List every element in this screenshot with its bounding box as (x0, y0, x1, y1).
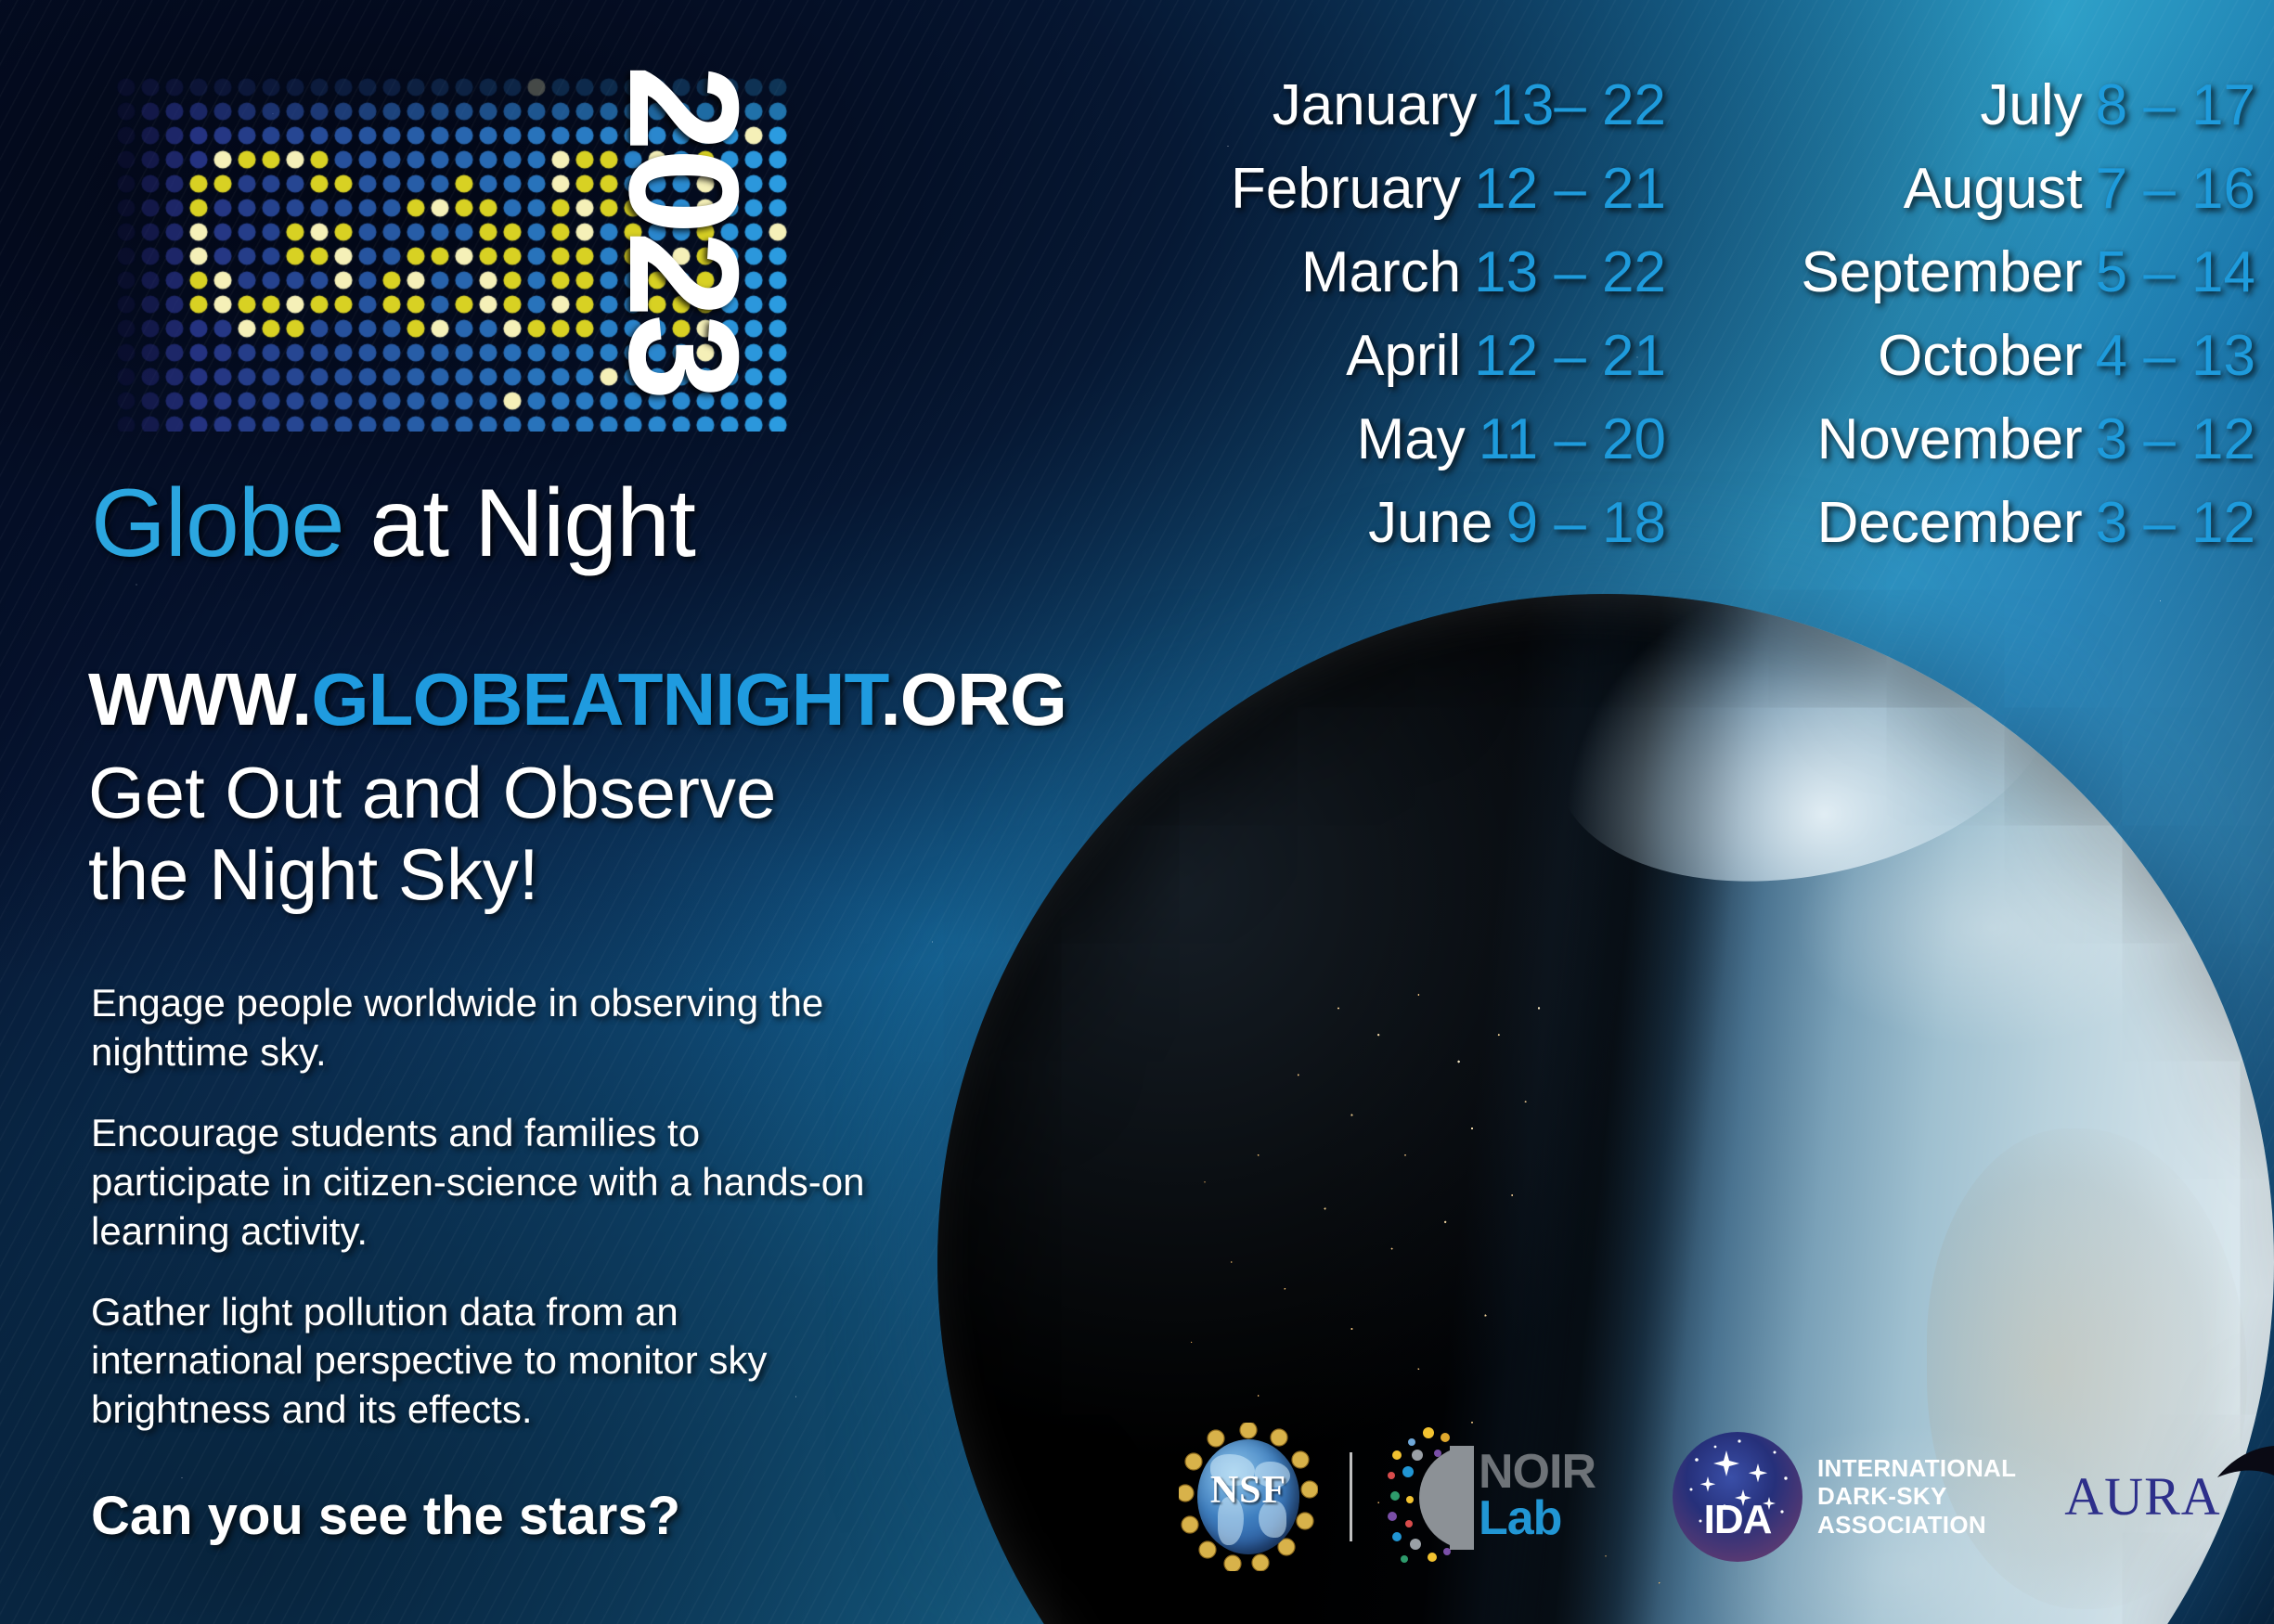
aura-logo[interactable]: AURA (2064, 1437, 2274, 1557)
poster-root: Globe at Night 2023 January 13– 22 Febru… (0, 0, 2274, 1624)
nsf-label: NSF (1179, 1468, 1318, 1513)
dates-column-left: January 13– 22 February 12 – 21 March 13… (1142, 72, 1666, 574)
date-row: June 9 – 18 (1142, 490, 1666, 574)
date-month: December (1817, 490, 2083, 556)
year-label: 2023 (625, 65, 773, 585)
campaign-dates-grid: January 13– 22 February 12 – 21 March 13… (1142, 72, 2255, 574)
url-tld: .ORG (881, 658, 1066, 741)
body-paragraph: Gather light pollution data from an inte… (91, 1288, 889, 1436)
ida-logo[interactable]: IDA INTERNATIONAL DARK-SKY ASSOCIATION (1673, 1432, 2016, 1562)
date-range: 12 – 21 (1474, 156, 1666, 222)
date-month: April (1346, 323, 1461, 389)
date-row: July 8 – 17 (1731, 72, 2255, 156)
date-range: 13 – 22 (1474, 239, 1666, 305)
date-month: May (1357, 406, 1466, 472)
date-row: December 3 – 12 (1731, 490, 2255, 574)
date-row: March 13 – 22 (1142, 239, 1666, 323)
brand-word-globe: Globe (91, 470, 344, 577)
noirlab-dot-cluster-icon (1384, 1427, 1473, 1566)
url-prefix: WWW. (88, 658, 311, 741)
headline-line-2: the Night Sky! (88, 833, 1016, 915)
ida-starfield-icon: IDA (1673, 1432, 1802, 1562)
url-domain: GLOBEATNIGHT (311, 658, 880, 741)
noirlab-wordmark: NOIR Lab (1479, 1450, 1596, 1542)
aura-wordmark: AURA (2064, 1465, 2220, 1527)
date-month: August (1904, 156, 2083, 222)
date-month: June (1368, 490, 1492, 556)
date-row: November 3 – 12 (1731, 406, 2255, 490)
dates-column-right: July 8 – 17 August 7 – 16 September 5 – … (1731, 72, 2255, 574)
date-range: 3 – 12 (2096, 406, 2255, 472)
body-paragraph: Engage people worldwide in observing the… (91, 979, 889, 1077)
brand-wordmark: Globe at Night (91, 469, 695, 579)
date-row: February 12 – 21 (1142, 156, 1666, 239)
noirlab-label-noir: NOIR (1479, 1450, 1596, 1495)
date-row: May 11 – 20 (1142, 406, 1666, 490)
date-month: October (1878, 323, 2083, 389)
date-range: 11 – 20 (1479, 406, 1666, 472)
ida-full-name: INTERNATIONAL DARK-SKY ASSOCIATION (1817, 1454, 2016, 1538)
date-row: October 4 – 13 (1731, 323, 2255, 406)
website-url[interactable]: WWW.GLOBEATNIGHT.ORG (88, 657, 1066, 742)
call-to-action-text: Can you see the stars? (91, 1485, 680, 1547)
date-row: April 12 – 21 (1142, 323, 1666, 406)
date-range: 8 – 17 (2096, 72, 2255, 138)
body-copy: Engage people worldwide in observing the… (91, 979, 889, 1435)
noirlab-label-lab: Lab (1479, 1495, 1596, 1542)
sponsor-logo-bar: NSF (1179, 1415, 2255, 1578)
date-range: 4 – 13 (2096, 323, 2255, 389)
aura-swoosh-icon (2216, 1437, 2274, 1557)
date-row: August 7 – 16 (1731, 156, 2255, 239)
page-title: Get Out and Observe the Night Sky! (88, 752, 1016, 915)
date-range: 12 – 21 (1474, 323, 1666, 389)
noirlab-logo[interactable]: NOIR Lab (1384, 1427, 1630, 1566)
date-range: 5 – 14 (2096, 239, 2255, 305)
date-month: January (1273, 72, 1478, 138)
date-month: September (1801, 239, 2082, 305)
date-range: 3 – 12 (2096, 490, 2255, 556)
nsf-logo[interactable]: NSF (1179, 1423, 1318, 1571)
body-paragraph: Encourage students and families to parti… (91, 1109, 889, 1257)
date-month: November (1817, 406, 2083, 472)
date-month: February (1231, 156, 1461, 222)
date-month: March (1301, 239, 1461, 305)
date-range: 7 – 16 (2096, 156, 2255, 222)
date-month: July (1980, 72, 2082, 138)
date-range: 13– 22 (1490, 72, 1666, 138)
logo-divider (1350, 1452, 1352, 1541)
ida-abbreviation: IDA (1673, 1497, 1802, 1543)
ida-name-line-1: INTERNATIONAL (1817, 1454, 2016, 1482)
date-row: January 13– 22 (1142, 72, 1666, 156)
ida-name-line-3: ASSOCIATION (1817, 1511, 2016, 1539)
headline-line-1: Get Out and Observe (88, 752, 1016, 833)
ida-name-line-2: DARK-SKY (1817, 1482, 2016, 1510)
date-row: September 5 – 14 (1731, 239, 2255, 323)
date-range: 9 – 18 (1506, 490, 1666, 556)
